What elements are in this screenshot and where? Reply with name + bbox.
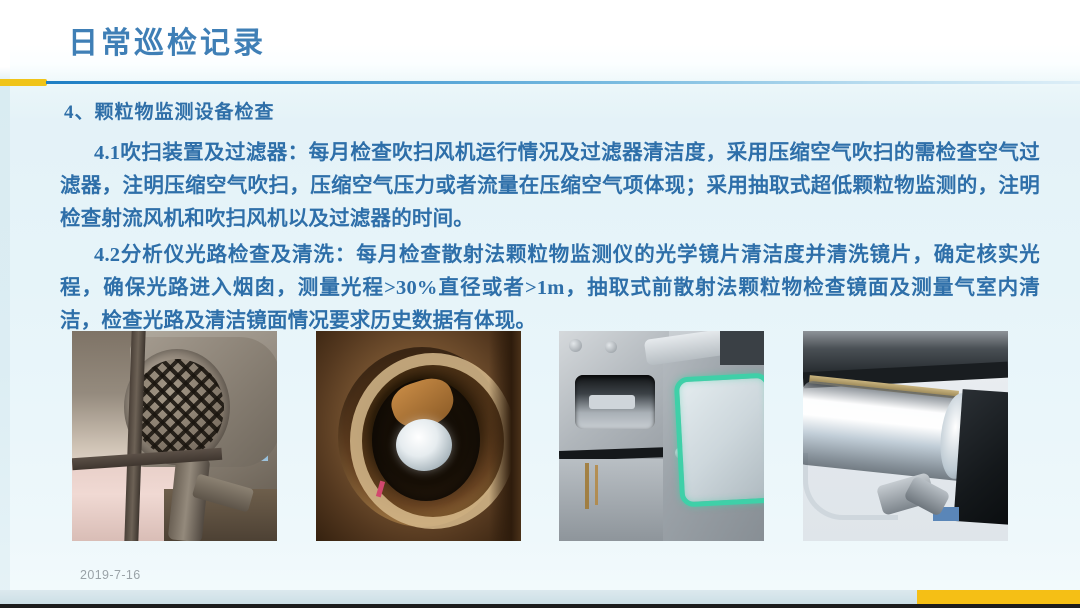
photo3-dark-top-corner: [720, 331, 764, 365]
divider-blue-rule: [46, 81, 1080, 84]
photo-row: [72, 331, 1008, 541]
photo-rusty-pipe-interior-lens: [316, 331, 521, 541]
bottom-edge-line: [0, 604, 1080, 608]
section-heading: 4、颗粒物监测设备检查: [64, 97, 275, 124]
photo-dirty-honeycomb-filter: [72, 331, 277, 541]
divider-yellow-segment: [0, 79, 47, 86]
photo3-stain-streak-2: [595, 465, 598, 505]
photo2-outer-wall-shadow: [489, 331, 521, 541]
slide-date: 2019-7-16: [80, 568, 141, 582]
paragraph-4-1: 4.1吹扫装置及过滤器：每月检查吹扫风机运行情况及过滤器清洁度，采用压缩空气吹扫…: [60, 137, 1040, 236]
photo-gas-chamber-teal-gasket: [559, 331, 764, 541]
photo1-honeycomb-mesh: [132, 359, 224, 457]
paragraph-4-2: 4.2分析仪光路检查及清洗：每月检查散射法颗粒物监测仪的光学镜片清洁度并清洗镜片…: [60, 239, 1040, 338]
photo3-teal-gasket-seal: [674, 373, 764, 508]
photo3-stain-streak-1: [585, 463, 589, 509]
photo-clean-glass-tube: [803, 331, 1008, 541]
slide-canvas: 日常巡检记录 4、颗粒物监测设备检查 4.1吹扫装置及过滤器：每月检查吹扫风机运…: [0, 0, 1080, 608]
photo3-measurement-cavity: [575, 375, 655, 429]
footer-bar: [0, 590, 1080, 604]
title-divider: [0, 79, 1080, 86]
footer-yellow-accent: [917, 590, 1080, 604]
page-title: 日常巡检记录: [68, 18, 266, 62]
left-edge-accent: [0, 0, 10, 608]
photo3-lower-panel: [559, 459, 671, 541]
photo2-lens-reflection: [396, 419, 452, 471]
photo3-screw-1: [569, 339, 582, 352]
photo4-black-mount: [953, 389, 1008, 525]
photo3-screw-2: [605, 341, 617, 353]
